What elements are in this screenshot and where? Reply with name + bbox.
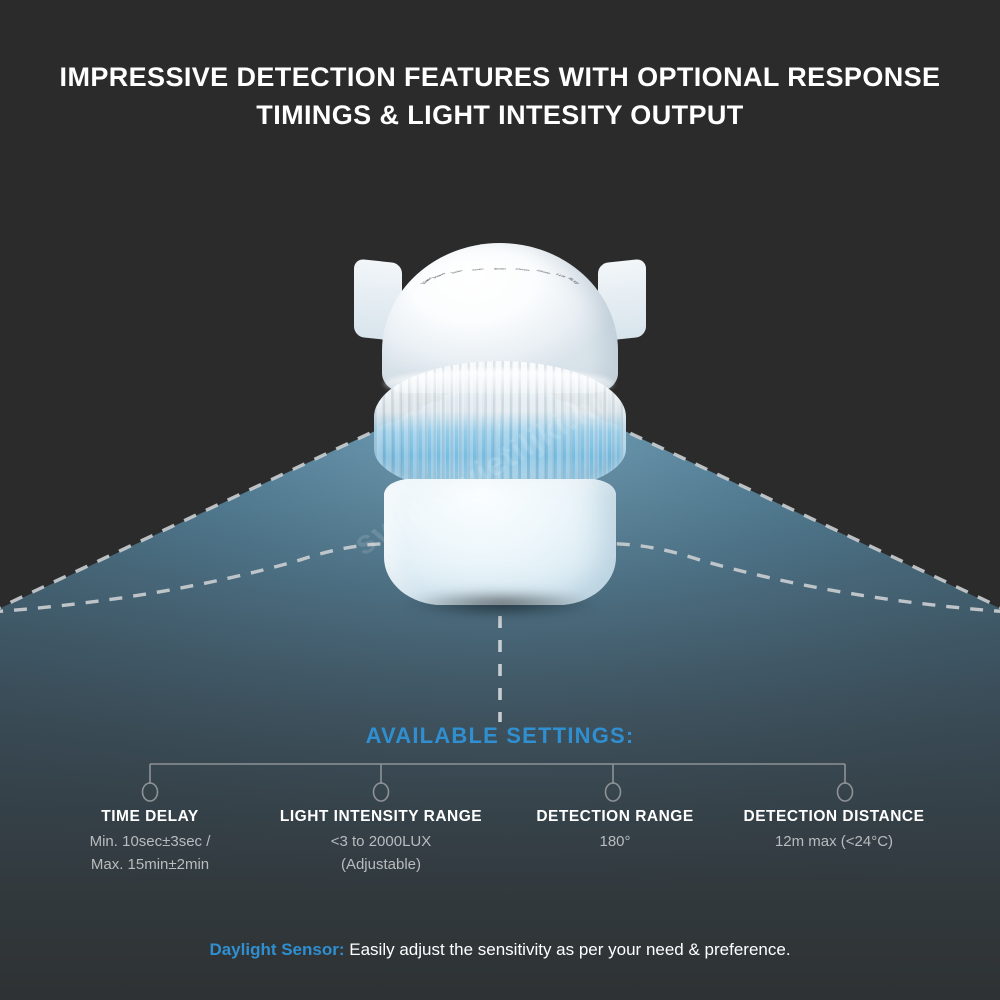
connector-node-2 — [374, 783, 389, 801]
setting-value-line-1: Min. 10sec±3sec / — [50, 830, 250, 853]
page-title: IMPRESSIVE DETECTION FEATURES WITH OPTIO… — [0, 58, 1000, 134]
setting-value-line-1: 12m max (<24°C) — [718, 830, 950, 853]
setting-time-delay: TIME DELAY Min. 10sec±3sec / Max. 15min±… — [50, 806, 250, 876]
dial-tick-label: 30sec — [431, 273, 447, 279]
connector-node-3 — [606, 783, 621, 801]
page-title-line-1: IMPRESSIVE DETECTION FEATURES WITH OPTIO… — [0, 58, 1000, 96]
page-title-line-2: TIMINGS & LIGHT INTESITY OUTPUT — [0, 96, 1000, 134]
settings-connector-bracket — [0, 758, 1000, 813]
lens-highlight — [384, 369, 614, 399]
setting-heading: TIME DELAY — [50, 806, 250, 828]
sensor-lower-body — [384, 479, 616, 605]
setting-light-intensity-range: LIGHT INTENSITY RANGE <3 to 2000LUX (Adj… — [250, 806, 512, 876]
infographic-canvas: IMPRESSIVE DETECTION FEATURES WITH OPTIO… — [0, 0, 1000, 1000]
connector-node-4 — [838, 783, 853, 801]
setting-heading: LIGHT INTENSITY RANGE — [250, 806, 512, 828]
daylight-sensor-text: Easily adjust the sensitivity as per you… — [345, 940, 791, 959]
settings-columns: TIME DELAY Min. 10sec±3sec / Max. 15min±… — [50, 806, 950, 876]
setting-value: <3 to 2000LUX (Adjustable) — [250, 830, 512, 876]
pir-sensor-device: 10sec30sec1min3min5min10min15minLUXSENS — [358, 243, 642, 583]
setting-heading: DETECTION RANGE — [512, 806, 718, 828]
dial-tick-label: 10sec — [419, 277, 434, 284]
setting-value-line-1: 180° — [512, 830, 718, 853]
connector-node-1 — [143, 783, 158, 801]
setting-heading: DETECTION DISTANCE — [718, 806, 950, 828]
daylight-sensor-label: Daylight Sensor: — [209, 940, 344, 959]
adjustment-dial-ring: 10sec30sec1min3min5min10min15minLUXSENS — [396, 274, 603, 296]
setting-detection-range: DETECTION RANGE 180° — [512, 806, 718, 876]
setting-value: Min. 10sec±3sec / Max. 15min±2min — [50, 830, 250, 876]
setting-value-line-1: <3 to 2000LUX — [250, 830, 512, 853]
daylight-sensor-note: Daylight Sensor: Easily adjust the sensi… — [0, 938, 1000, 962]
setting-value: 180° — [512, 830, 718, 853]
setting-value: 12m max (<24°C) — [718, 830, 950, 853]
available-settings-heading: AVAILABLE SETTINGS: — [0, 723, 1000, 749]
setting-value-line-2: (Adjustable) — [250, 853, 512, 876]
setting-value-line-2: Max. 15min±2min — [50, 853, 250, 876]
dial-tick-label: SENS — [566, 278, 581, 285]
dial-tick-label: 5min — [494, 268, 506, 270]
device-drop-shadow — [404, 591, 600, 617]
setting-detection-distance: DETECTION DISTANCE 12m max (<24°C) — [718, 806, 950, 876]
